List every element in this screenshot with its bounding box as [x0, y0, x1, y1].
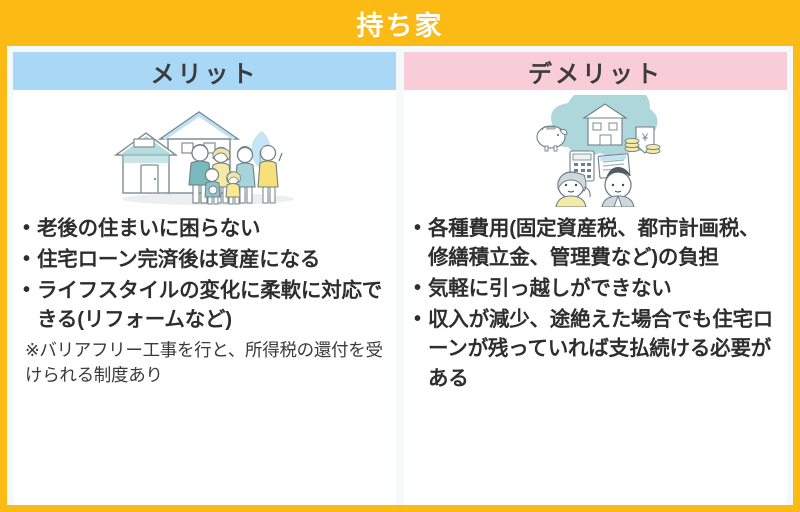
list-item: • 各種費用(固定資産税、都市計画税、修繕積立金、管理費など)の負担 — [414, 214, 779, 272]
list-item: • 老後の住まいに困らない — [23, 214, 388, 243]
owned-home-comparison-infographic: 持ち家 メリット — [0, 0, 800, 512]
demerit-list: • 各種費用(固定資産税、都市計画税、修繕積立金、管理費など)の負担 • 気軽に… — [404, 208, 787, 505]
list-item: • 気軽に引っ越しができない — [414, 274, 779, 303]
demerit-column: デメリット — [404, 52, 787, 505]
merit-item-text: 住宅ローン完済後は資産になる — [37, 245, 388, 274]
merit-list: • 老後の住まいに困らない • 住宅ローン完済後は資産になる • ライフスタイル… — [13, 208, 396, 505]
bullet-icon: • — [414, 214, 428, 242]
bullet-icon: • — [23, 245, 37, 273]
bullet-icon: • — [414, 274, 428, 302]
list-item: • 収入が減少、途絶えた場合でも住宅ローンが残っていれば支払続ける必要がある — [414, 305, 779, 392]
family-in-front-of-house-illustration — [13, 90, 396, 208]
demerit-item-text: 各種費用(固定資産税、都市計画税、修繕積立金、管理費など)の負担 — [428, 214, 779, 272]
merit-header-label: メリット — [151, 54, 259, 89]
demerit-item-text: 気軽に引っ越しができない — [428, 274, 779, 303]
list-item: • 住宅ローン完済後は資産になる — [23, 245, 388, 274]
page-title: 持ち家 — [357, 4, 444, 43]
bullet-icon: • — [23, 214, 37, 242]
list-item: • ライフスタイルの変化に柔軟に対応できる(リフォームなど) — [23, 276, 388, 334]
svg-text:¥: ¥ — [640, 132, 648, 144]
bullet-icon: • — [23, 276, 37, 304]
demerit-header-label: デメリット — [528, 54, 663, 89]
merit-footnote: ※バリアフリー工事を行と、所得税の還付を受けられる制度あり — [23, 336, 388, 386]
merit-item-text: ライフスタイルの変化に柔軟に対応できる(リフォームなど) — [37, 276, 388, 334]
infographic-title-bar: 持ち家 — [7, 0, 793, 46]
bullet-icon: • — [414, 305, 428, 333]
merit-item-text: 老後の住まいに困らない — [37, 214, 388, 243]
demerit-column-header: デメリット — [404, 52, 787, 90]
worried-couple-with-cost-thought-cloud-illustration: ¥ — [404, 90, 787, 208]
merit-column: メリット — [13, 52, 396, 505]
comparison-columns: メリット — [7, 46, 793, 505]
merit-column-header: メリット — [13, 52, 396, 90]
demerit-item-text: 収入が減少、途絶えた場合でも住宅ローンが残っていれば支払続ける必要がある — [428, 305, 779, 392]
